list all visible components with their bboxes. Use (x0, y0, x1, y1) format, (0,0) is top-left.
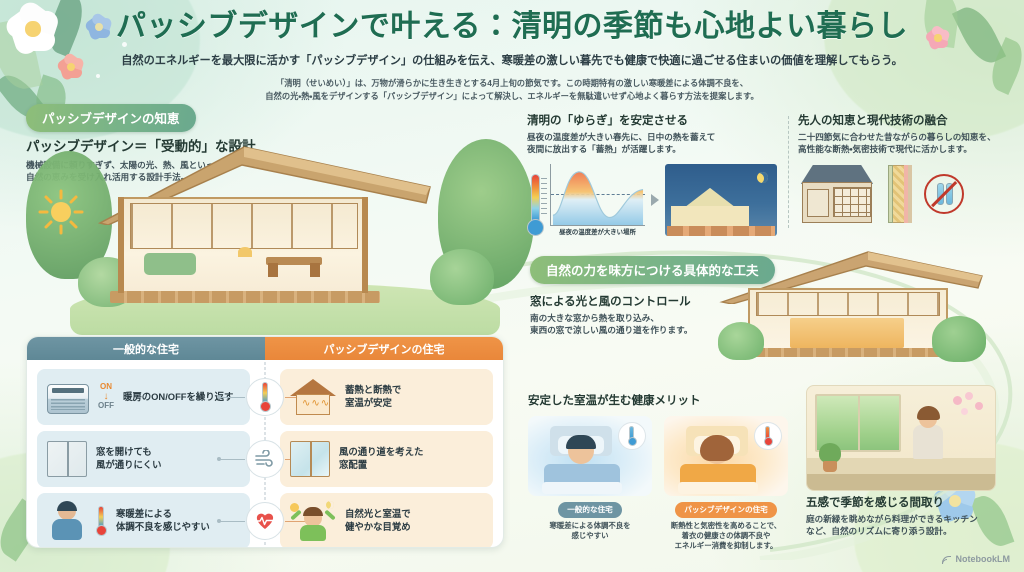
health-card-caption: 寒暖差による体調不良を 感じやすい (528, 521, 652, 541)
comparison-right-text: 蓄熱と断熱で 室温が安定 (345, 384, 401, 410)
cold-person-icon (47, 502, 87, 540)
section-yuragi-body-line1: 昼夜の温度差が大きい春先に、日中の熱を蓄えて (527, 131, 777, 143)
section-yuragi-chart-caption: 昼夜の温度差が大きい場所 (550, 227, 645, 236)
page-title: パッシブデザインで叶える：清明の季節も心地よい暮らし (0, 10, 1024, 45)
section-gokan-title: 五感で季節を感じる間取り (806, 494, 1011, 510)
hero-post-right (362, 197, 368, 293)
status-badge: 一般的な住宅 (558, 502, 622, 518)
temperature-wave-chart (550, 164, 645, 226)
section-gokan-body: 庭の新緑を眺めながら料理ができるキッチン など、自然のリズムに寄り添う設計。 (806, 513, 1011, 538)
hero-deck (110, 291, 380, 303)
comparison-left-text-line1: 寒暖差による (116, 508, 210, 521)
comparison-cell-right: 風の通り道を考えた 窓配置 (280, 431, 493, 487)
moon-icon (757, 172, 768, 183)
comparison-right-text-line2: 健やかな目覚め (345, 521, 411, 534)
night-house-illustration (665, 164, 777, 236)
sleeping-warm-illustration (664, 416, 788, 496)
section-yuragi-body-line2: 夜間に放出する「蓄熱」が活躍します。 (527, 143, 777, 155)
page-lede: 「清明（せいめい）」は、万物が滑らかに生き生きとする4月上旬の節気です。この時期… (0, 77, 1024, 103)
comparison-left-text-line1: 窓を開けても (96, 446, 161, 459)
page-lede-line1: 「清明（せいめい）」は、万物が滑らかに生き生きとする4月上旬の節気です。この時期… (0, 77, 1024, 90)
comparison-mid-badge (246, 440, 284, 478)
hero-house-illustration (70, 135, 500, 335)
house2-bush-left (718, 322, 764, 360)
kitchen-person-hair (917, 406, 940, 420)
notebooklm-watermark: NotebookLM (941, 554, 1011, 564)
comparison-right-text-line1: 蓄熱と断熱で (345, 384, 401, 397)
comparison-left-text-line2: 体調不良を感じやすい (116, 521, 210, 534)
comparison-right-text: 風の通り道を考えた 窓配置 (339, 446, 423, 472)
table-row: ON ↓ OFF 暖房のON/OFFを繰り返す (37, 369, 493, 425)
comparison-right-text-line1: 自然光と室温で (345, 508, 411, 521)
notebooklm-logo-icon (941, 554, 952, 564)
comparison-left-text: 窓を開けても 風が通りにくい (96, 446, 161, 472)
notebooklm-label: NotebookLM (956, 554, 1011, 564)
section-gokan-body-line1: 庭の新緑を眺めながら料理ができるキッチン (806, 513, 1011, 525)
section-wisdom-pill: パッシブデザインの知恵 (26, 104, 196, 132)
section-health: 安定した室温が生む健康メリット 一般的な住宅 (528, 392, 796, 551)
section-senjin-title: 先人の知恵と現代技術の融合 (798, 112, 1010, 128)
health-caption-line3: エネルギー消費を抑制します。 (664, 541, 788, 551)
kitchen-illustration (806, 385, 996, 491)
health-card-passive: パッシブデザインの住宅 断熱性と気密性を高めることで、 着衣の健康さの体調不良や… (664, 416, 788, 551)
comparison-header-row: 一般的な住宅 パッシブデザインの住宅 (27, 337, 503, 360)
status-badge: パッシブデザインの住宅 (675, 502, 777, 518)
hero-bush-right (430, 249, 494, 305)
health-caption-line2: 着衣の健康さの体調不良や (664, 531, 788, 541)
off-label: OFF (98, 401, 114, 410)
section-senjin-body-line1: 二十四節気に合わせた昔ながらの暮らしの知恵を、 (798, 131, 1010, 143)
heater-icon (47, 380, 89, 414)
comparison-cell-right: 自然光と室温で 健やかな目覚め (280, 493, 493, 548)
kitchen-person-body (913, 425, 943, 459)
thermometer-icon (527, 174, 544, 236)
section-yuragi-art: 昼夜の温度差が大きい場所 (527, 164, 777, 236)
health-card-caption: 断熱性と気密性を高めることで、 着衣の健康さの体調不良や エネルギー消費を抑制し… (664, 521, 788, 551)
section-gokan-body-line2: など、自然のリズムに寄り添う設計。 (806, 525, 1011, 537)
health-caption-line1: 寒暖差による体調不良を (528, 521, 652, 531)
wall-cross-section-icon (888, 165, 912, 223)
open-window-icon (290, 441, 330, 477)
thermometer-icon (96, 506, 107, 536)
no-thermometer-icon (924, 174, 964, 214)
comparison-right-text-line2: 窓配置 (339, 459, 423, 472)
health-card-conventional: 一般的な住宅 寒暖差による体調不良を 感じやすい (528, 416, 652, 551)
table-row: 寒暖差による 体調不良を感じやすい (37, 493, 493, 548)
section-senjin-art (798, 165, 1010, 223)
comparison-left-text: 寒暖差による 体調不良を感じやすい (116, 508, 210, 534)
hero-chair-2 (310, 263, 320, 277)
thermometer-icon (260, 382, 271, 412)
comparison-body: ON ↓ OFF 暖房のON/OFFを繰り返す (27, 360, 503, 548)
house2-glass-band (756, 292, 940, 316)
comparison-cell-right: ∿∿∿ 蓄熱と断熱で 室温が安定 (280, 369, 493, 425)
traditional-house-icon (798, 165, 876, 223)
potted-plant-icon (819, 444, 841, 472)
kitchen-cabinet (807, 474, 995, 490)
window-house-illustration (718, 248, 986, 368)
comparison-right-text-line1: 風の通り道を考えた (339, 446, 423, 459)
page-subtitle: 自然のエネルギーを最大限に活かす「パッシブデザイン」の仕組みを伝え、寒暖差の激し… (0, 54, 1024, 69)
comparison-right-text-line2: 室温が安定 (345, 397, 401, 410)
comparison-mid-badge (246, 502, 284, 540)
hero-post-left (118, 197, 124, 293)
section-senjin-body-line2: 高性能な断熱・気密技術で現代に活かします。 (798, 143, 1010, 155)
comparison-header-left: 一般的な住宅 (27, 337, 265, 360)
infographic-poster: パッシブデザインで叶える：清明の季節も心地よい暮らし 自然のエネルギーを最大限に… (0, 0, 1024, 572)
sleeping-cold-illustration (528, 416, 652, 496)
comparison-left-text-line2: 風が通りにくい (96, 459, 161, 472)
house2-bush-right (932, 316, 986, 362)
blossom-branch-icon (949, 390, 989, 424)
arrow-right-icon (651, 194, 659, 206)
health-caption-line2: 感じやすい (528, 531, 652, 541)
heated-house-icon: ∿∿∿ (290, 379, 336, 415)
comparison-right-text: 自然光と室温で 健やかな目覚め (345, 508, 411, 534)
heart-pulse-icon (254, 511, 276, 531)
hero-sofa (144, 253, 196, 275)
thermometer-icon (754, 422, 782, 450)
section-gokan: 五感で季節を感じる間取り 庭の新緑を眺めながら料理ができるキッチン など、自然の… (806, 494, 1011, 538)
section-yuragi-title: 清明の「ゆらぎ」を安定させる (527, 112, 777, 128)
hero-house-glass (130, 203, 358, 249)
section-yuragi-body: 昼夜の温度差が大きい春先に、日中の熱を蓄えて 夜間に放出する「蓄熱」が活躍します… (527, 131, 777, 156)
on-off-badge: ON ↓ OFF (98, 383, 114, 410)
section-senjin-body: 二十四節気に合わせた昔ながらの暮らしの知恵を、 高性能な断熱・気密技術で現代に活… (798, 131, 1010, 156)
comparison-mid-badge (246, 378, 284, 416)
section-health-title: 安定した室温が生む健康メリット (528, 392, 796, 408)
header: パッシブデザインで叶える：清明の季節も心地よい暮らし 自然のエネルギーを最大限に… (0, 10, 1024, 103)
comparison-header-right: パッシブデザインの住宅 (265, 337, 503, 360)
house2-deck (736, 348, 960, 357)
section-yuragi: 清明の「ゆらぎ」を安定させる 昼夜の温度差が大きい春先に、日中の熱を蓄えて 夜間… (527, 112, 777, 236)
health-caption-line1: 断熱性と気密性を高めることで、 (664, 521, 788, 531)
comparison-table: 一般的な住宅 パッシブデザインの住宅 ON ↓ OFF 暖房のON/OFF (26, 336, 504, 548)
on-label: ON (100, 382, 112, 391)
wind-icon (254, 450, 276, 468)
section-health-cards: 一般的な住宅 寒暖差による体調不良を 感じやすい (528, 416, 796, 551)
hero-lamp (238, 247, 252, 257)
hero-chair-1 (268, 263, 278, 277)
section-divider (788, 116, 789, 228)
page-lede-line2: 自然の光・熱・風をデザインする「パッシブデザイン」によって解決し、エネルギーを無… (0, 90, 1024, 103)
section-senjin: 先人の知恵と現代技術の融合 二十四節気に合わせた昔ながらの暮らしの知恵を、 高性… (798, 112, 1010, 223)
sun-icon (38, 189, 84, 235)
closed-window-icon (47, 441, 87, 477)
thermometer-icon (618, 422, 646, 450)
house2-warm-interior (790, 318, 904, 348)
happy-person-icon (290, 501, 336, 541)
table-row: 窓を開けても 風が通りにくい (37, 431, 493, 487)
